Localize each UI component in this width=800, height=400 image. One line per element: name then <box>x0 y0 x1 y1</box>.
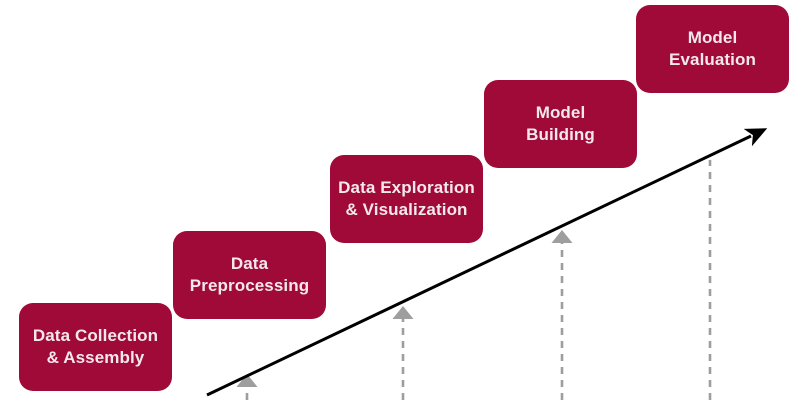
stage-box-model-building[interactable]: Model Building <box>484 80 637 168</box>
stage-box-data-preprocessing[interactable]: Data Preprocessing <box>173 231 326 319</box>
stage-box-model-evaluation[interactable]: Model Evaluation <box>636 5 789 93</box>
stage-box-data-exploration-visualization[interactable]: Data Exploration & Visualization <box>330 155 483 243</box>
connector-arrowhead-data-exploration-visualization <box>552 230 573 243</box>
connector-arrowhead-data-preprocessing <box>393 306 414 319</box>
stage-label-data-collection-assembly: Data Collection & Assembly <box>33 325 158 369</box>
stage-label-data-preprocessing: Data Preprocessing <box>190 253 309 297</box>
stage-label-data-exploration-visualization: Data Exploration & Visualization <box>338 177 475 221</box>
stage-box-data-collection-assembly[interactable]: Data Collection & Assembly <box>19 303 172 391</box>
stage-label-model-building: Model Building <box>526 102 595 146</box>
stage-label-model-evaluation: Model Evaluation <box>669 27 756 71</box>
diagram-canvas: Data Collection & Assembly Data Preproce… <box>0 0 800 400</box>
